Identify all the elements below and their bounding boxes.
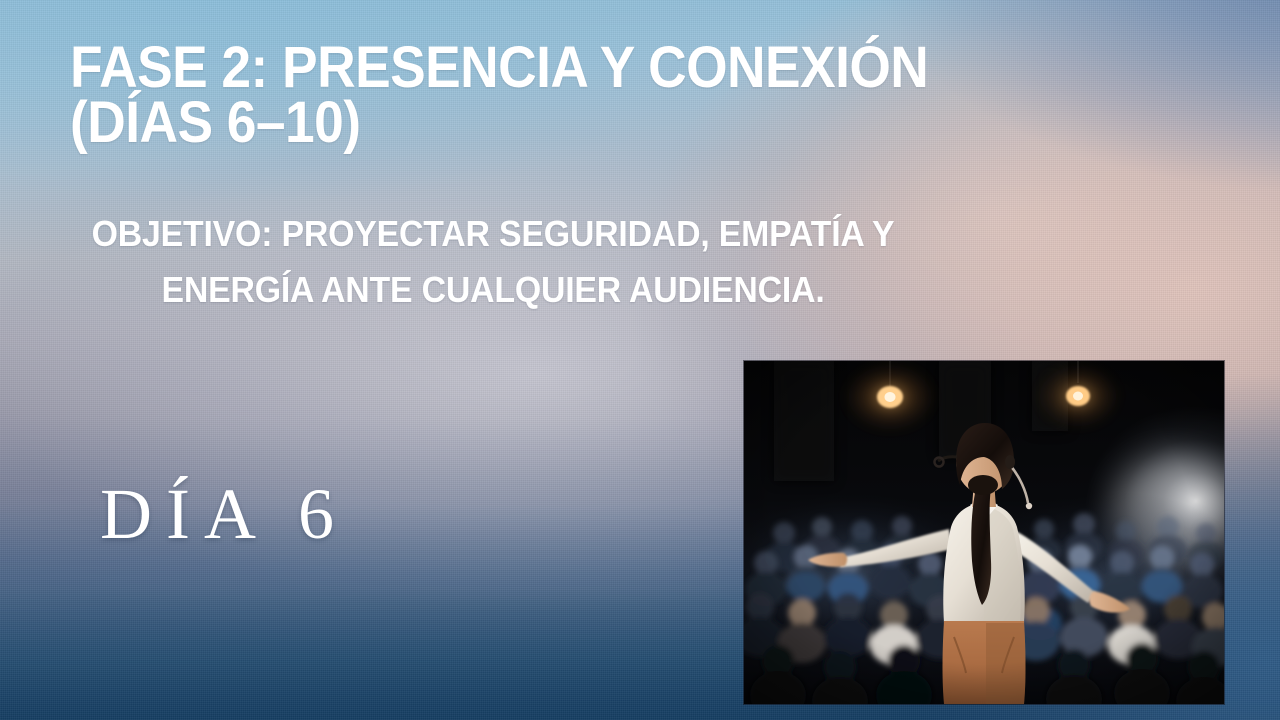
presentation-slide: FASE 2: PRESENCIA Y CONEXIÓN (DÍAS 6–10)… (0, 0, 1280, 720)
slide-subtitle-objective: OBJETIVO: PROYECTAR SEGURIDAD, EMPATÍA Y… (88, 206, 898, 318)
speaker-audience-photo (744, 361, 1224, 704)
slide-title: FASE 2: PRESENCIA Y CONEXIÓN (DÍAS 6–10) (70, 40, 1054, 150)
speaker-audience-illustration (744, 361, 1224, 704)
day-label: DÍA 6 (100, 478, 348, 550)
